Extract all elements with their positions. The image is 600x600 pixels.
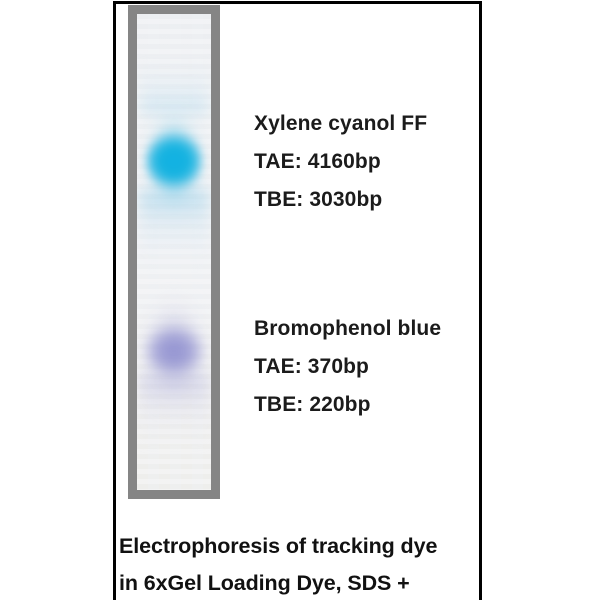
xylene-cyanol-name-label: Xylene cyanol FF	[254, 105, 427, 143]
gel-texture-overlay	[137, 14, 211, 490]
xylene-cyanol-band-halo	[137, 86, 211, 236]
gel-lane	[137, 14, 211, 490]
gel-cassette	[128, 5, 220, 499]
figure-caption-line-1: Electrophoresis of tracking dye	[119, 528, 487, 565]
bromophenol-blue-band-trail	[138, 374, 209, 452]
xylene-cyanol-tbe-label: TBE: 3030bp	[254, 181, 427, 219]
xylene-cyanol-band	[144, 130, 203, 192]
bromophenol-blue-name-label: Bromophenol blue	[254, 310, 441, 348]
figure-caption-line-2: in 6xGel Loading Dye, SDS +	[119, 565, 487, 600]
xylene-cyanol-band-trail	[138, 190, 209, 276]
figure-caption: Electrophoresis of tracking dye in 6xGel…	[119, 528, 487, 600]
xylene-cyanol-band-upper-wisp	[140, 60, 208, 114]
xylene-cyanol-annotation: Xylene cyanol FF TAE: 4160bp TBE: 3030bp	[254, 105, 427, 219]
bromophenol-blue-annotation: Bromophenol blue TAE: 370bp TBE: 220bp	[254, 310, 441, 424]
bromophenol-blue-band	[142, 322, 206, 380]
figure-root: Xylene cyanol FF TAE: 4160bp TBE: 3030bp…	[0, 0, 600, 600]
bromophenol-blue-tbe-label: TBE: 220bp	[254, 386, 441, 424]
bromophenol-blue-tae-label: TAE: 370bp	[254, 348, 441, 386]
bromophenol-blue-band-halo	[137, 282, 211, 422]
xylene-cyanol-tae-label: TAE: 4160bp	[254, 143, 427, 181]
